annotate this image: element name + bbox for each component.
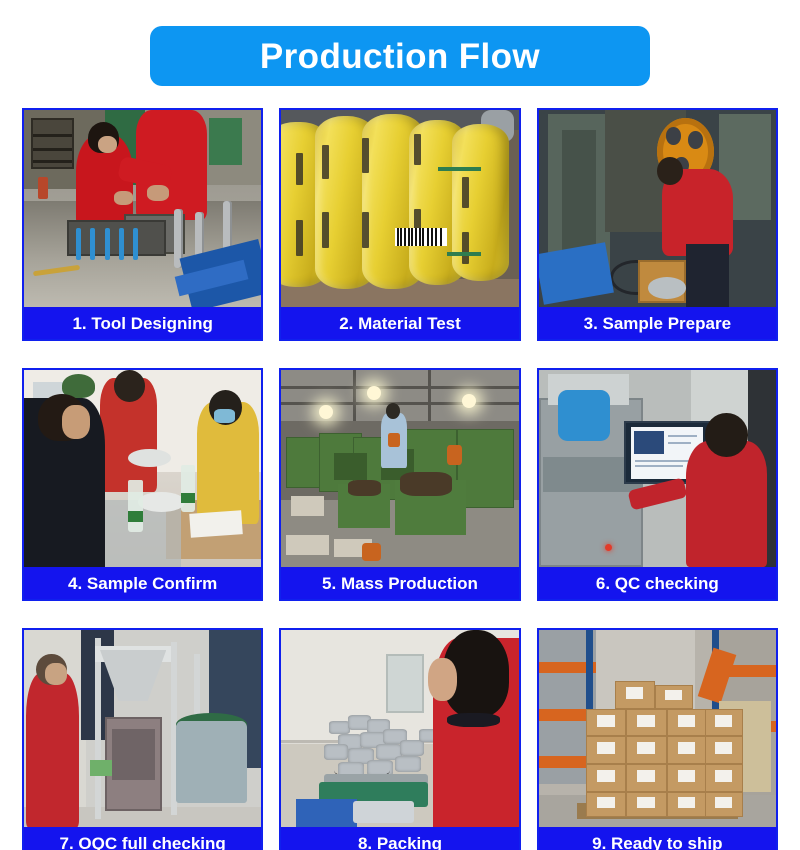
step-card-5[interactable]: 5. Mass Production (279, 368, 520, 601)
step-photo-7 (24, 630, 261, 827)
step-caption-2: 2. Material Test (281, 307, 518, 339)
steps-grid: 1. Tool Designing (0, 108, 800, 850)
step-card-1[interactable]: 1. Tool Designing (22, 108, 263, 341)
step-card-2[interactable]: 2. Material Test (279, 108, 520, 341)
step-card-9[interactable]: 9. Ready to ship (537, 628, 778, 850)
step-photo-9 (539, 630, 776, 827)
step-card-3[interactable]: 3. Sample Prepare (537, 108, 778, 341)
step-photo-5 (281, 370, 518, 567)
header: Production Flow (0, 0, 800, 86)
step-caption-4: 4. Sample Confirm (24, 567, 261, 599)
step-photo-4 (24, 370, 261, 567)
step-caption-8: 8. Packing (281, 827, 518, 850)
production-flow-infographic: Production Flow (0, 0, 800, 850)
step-card-6[interactable]: 6. QC checking (537, 368, 778, 601)
step-photo-8 (281, 630, 518, 827)
step-caption-3: 3. Sample Prepare (539, 307, 776, 339)
step-caption-6: 6. QC checking (539, 567, 776, 599)
step-card-8[interactable]: 8. Packing (279, 628, 520, 850)
step-caption-7: 7. OQC full checking (24, 827, 261, 850)
step-photo-1 (24, 110, 261, 307)
page-title: Production Flow (260, 39, 540, 74)
step-photo-3 (539, 110, 776, 307)
step-caption-5: 5. Mass Production (281, 567, 518, 599)
step-caption-1: 1. Tool Designing (24, 307, 261, 339)
step-photo-2 (281, 110, 518, 307)
step-photo-6 (539, 370, 776, 567)
step-card-7[interactable]: 7. OQC full checking (22, 628, 263, 850)
title-banner: Production Flow (150, 26, 650, 86)
step-caption-9: 9. Ready to ship (539, 827, 776, 850)
step-card-4[interactable]: 4. Sample Confirm (22, 368, 263, 601)
